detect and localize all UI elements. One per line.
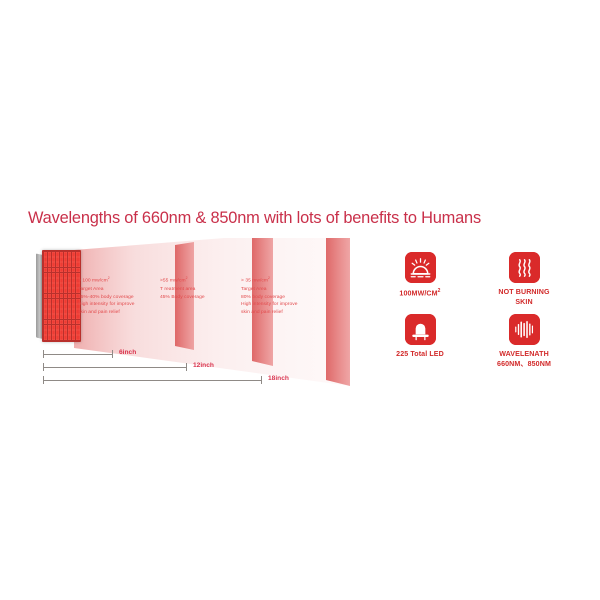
led-dot <box>52 320 56 325</box>
led-dot <box>60 304 64 309</box>
led-dot <box>60 314 64 319</box>
led-dot <box>68 294 72 299</box>
led-dot <box>52 325 56 330</box>
led-dot <box>76 257 80 262</box>
led-dot <box>52 268 56 273</box>
infographic-canvas: Wavelengths of 660nm & 850nm with lots o… <box>0 0 600 600</box>
led-dot <box>44 320 48 325</box>
led-dot <box>60 294 64 299</box>
led-dot <box>72 304 76 309</box>
led-dot <box>64 335 68 340</box>
led-dot <box>48 304 52 309</box>
led-dot <box>48 288 52 293</box>
led-dot <box>44 278 48 283</box>
ruler-bar <box>43 354 113 355</box>
led-dot <box>56 335 60 340</box>
zone-note-2: skin and pain relief <box>78 309 134 317</box>
led-dot <box>56 304 60 309</box>
led-dot <box>44 299 48 304</box>
sun-rays-icon <box>405 252 436 283</box>
led-dot <box>64 268 68 273</box>
led-dot <box>64 273 68 278</box>
feature-power-density: 100MW/CM2 <box>372 252 468 299</box>
led-dot <box>52 273 56 278</box>
led-dot <box>56 309 60 314</box>
ruler-bar <box>43 367 187 368</box>
led-dot <box>72 294 76 299</box>
led-dot <box>56 320 60 325</box>
led-dot <box>64 330 68 335</box>
led-dot <box>48 252 52 257</box>
led-dot <box>48 283 52 288</box>
ruler-cap-right <box>186 363 187 371</box>
led-dot <box>56 257 60 262</box>
led-dot <box>56 299 60 304</box>
feature-not-burning-skin: NOT BURNING SKIN <box>476 252 572 307</box>
feature-grid: 100MW/CM2 225 Total LED <box>372 252 576 382</box>
led-dot <box>60 262 64 267</box>
led-dot <box>44 330 48 335</box>
feature-label: 100MW/CM2 <box>372 288 468 299</box>
zone-irradiance: > 100 mw/cm2 <box>78 276 134 286</box>
led-dot <box>64 325 68 330</box>
led-dot <box>76 320 80 325</box>
zone-label-6inch: > 100 mw/cm2 Target Area 35%-40% body co… <box>78 276 134 317</box>
led-dot <box>56 268 60 273</box>
feature-wavelength: WAVELENATH 660NM、850NM <box>476 314 572 369</box>
led-dot <box>52 262 56 267</box>
led-dot <box>52 283 56 288</box>
led-dot <box>60 268 64 273</box>
ruler-cap-right <box>261 376 262 384</box>
panel-face <box>42 250 81 342</box>
zone-area: Target Area <box>241 286 297 294</box>
zone-label-12inch: >55 mw/cm2 T reatment area 45% Body cove… <box>160 276 205 301</box>
led-bulb-icon <box>405 314 436 345</box>
led-dot <box>48 268 52 273</box>
led-dot <box>68 262 72 267</box>
ruler-6inch: 6inch <box>43 349 113 359</box>
led-dot <box>72 262 76 267</box>
zone-label-18inch: > 35 mw/cm2 Target Area 80% body coverag… <box>241 276 297 317</box>
led-dot <box>64 314 68 319</box>
led-dot <box>72 309 76 314</box>
led-dot <box>60 252 64 257</box>
led-dot <box>72 299 76 304</box>
led-dot <box>52 304 56 309</box>
led-dot <box>72 330 76 335</box>
led-dot <box>76 268 80 273</box>
led-dot <box>52 278 56 283</box>
led-dot <box>64 304 68 309</box>
led-dot <box>60 257 64 262</box>
led-dot <box>68 325 72 330</box>
led-dot <box>64 257 68 262</box>
led-dot <box>44 335 48 340</box>
led-dot <box>52 309 56 314</box>
led-dot <box>56 288 60 293</box>
led-dot <box>72 283 76 288</box>
led-dot <box>44 268 48 273</box>
led-dot <box>60 273 64 278</box>
ruler-label: 12inch <box>193 362 214 369</box>
led-dot <box>48 320 52 325</box>
ruler-cap-left <box>43 376 44 384</box>
led-dot <box>64 283 68 288</box>
led-dot <box>68 320 72 325</box>
led-dot <box>68 309 72 314</box>
led-dot <box>48 299 52 304</box>
led-dot <box>48 335 52 340</box>
led-dot <box>60 325 64 330</box>
led-dot <box>68 273 72 278</box>
feature-total-led: 225 Total LED <box>372 314 468 360</box>
page-title: Wavelengths of 660nm & 850nm with lots o… <box>28 209 576 228</box>
led-dot <box>68 252 72 257</box>
led-dot <box>56 325 60 330</box>
led-dot <box>76 330 80 335</box>
led-dot <box>52 299 56 304</box>
zone-note-1: High intensity for improve <box>78 301 134 309</box>
led-dot <box>56 294 60 299</box>
zone-note-2: skin and pain relief <box>241 309 297 317</box>
led-dot <box>60 278 64 283</box>
led-dot <box>76 262 80 267</box>
zone-note-1: High intensity for improve <box>241 301 297 309</box>
ruler-18inch: 18inch <box>43 375 262 385</box>
led-dot <box>72 273 76 278</box>
zone-area: Target Area <box>78 286 134 294</box>
led-dot <box>72 335 76 340</box>
led-dot <box>68 283 72 288</box>
led-dot <box>60 330 64 335</box>
led-dot <box>68 304 72 309</box>
led-dot <box>48 262 52 267</box>
led-dot <box>56 314 60 319</box>
led-dot <box>60 335 64 340</box>
led-dot <box>64 278 68 283</box>
led-dot <box>72 278 76 283</box>
led-dot <box>68 268 72 273</box>
led-dot <box>60 288 64 293</box>
led-dot <box>44 325 48 330</box>
zone-coverage: 35%-40% body coverage <box>78 294 134 302</box>
led-dot <box>60 283 64 288</box>
ruler-12inch: 12inch <box>43 362 187 372</box>
led-dot <box>68 257 72 262</box>
led-dot <box>68 299 72 304</box>
led-dot <box>44 257 48 262</box>
led-dot <box>44 252 48 257</box>
led-dot <box>68 330 72 335</box>
led-dot <box>64 309 68 314</box>
feature-label: WAVELENATH 660NM、850NM <box>476 350 572 369</box>
led-dot <box>68 314 72 319</box>
led-dot <box>56 252 60 257</box>
led-dot <box>48 294 52 299</box>
led-dot <box>44 314 48 319</box>
led-dot <box>72 288 76 293</box>
led-dot <box>52 252 56 257</box>
led-dot <box>72 325 76 330</box>
led-dot <box>56 330 60 335</box>
led-dot <box>48 330 52 335</box>
zone-irradiance: > 35 mw/cm2 <box>241 276 297 286</box>
led-dot <box>56 283 60 288</box>
zone-irradiance: >55 mw/cm2 <box>160 276 205 286</box>
led-dot <box>44 294 48 299</box>
led-dot <box>76 252 80 257</box>
led-dot <box>56 278 60 283</box>
led-dot <box>44 309 48 314</box>
led-dot <box>60 299 64 304</box>
led-dot <box>52 288 56 293</box>
led-dot <box>72 320 76 325</box>
plane-18inch <box>326 238 350 386</box>
led-dot <box>68 335 72 340</box>
ruler-cap-left <box>43 350 44 358</box>
led-dot <box>64 299 68 304</box>
led-dot <box>48 309 52 314</box>
zone-area: T reatment area <box>160 286 205 294</box>
led-dot <box>48 273 52 278</box>
ruler-cap-right <box>112 350 113 358</box>
led-dot <box>48 257 52 262</box>
led-dot <box>44 304 48 309</box>
led-dot <box>44 273 48 278</box>
waveform-icon <box>509 314 540 345</box>
heat-waves-icon <box>509 252 540 283</box>
zone-coverage: 45% Body coverage <box>160 294 205 302</box>
ruler-label: 6inch <box>119 349 136 356</box>
led-dot <box>48 314 52 319</box>
led-dot <box>48 325 52 330</box>
led-panel <box>36 250 84 342</box>
ruler-label: 18inch <box>268 375 289 382</box>
led-grid <box>44 252 80 340</box>
feature-label: 225 Total LED <box>372 350 468 360</box>
led-dot <box>44 288 48 293</box>
led-dot <box>44 262 48 267</box>
led-dot <box>56 273 60 278</box>
led-dot <box>64 320 68 325</box>
led-dot <box>48 278 52 283</box>
led-dot <box>68 278 72 283</box>
led-dot <box>52 257 56 262</box>
led-dot <box>64 262 68 267</box>
led-dot <box>64 294 68 299</box>
led-dot <box>76 325 80 330</box>
led-dot <box>60 320 64 325</box>
led-dot <box>72 252 76 257</box>
led-dot <box>64 288 68 293</box>
zone-coverage: 80% body coverage <box>241 294 297 302</box>
led-dot <box>56 262 60 267</box>
led-dot <box>52 335 56 340</box>
ruler-bar <box>43 380 262 381</box>
led-dot <box>60 309 64 314</box>
feature-label: NOT BURNING SKIN <box>476 288 572 307</box>
led-dot <box>76 335 80 340</box>
ruler-cap-left <box>43 363 44 371</box>
led-dot <box>52 314 56 319</box>
led-dot <box>72 268 76 273</box>
led-dot <box>72 257 76 262</box>
led-dot <box>52 294 56 299</box>
led-dot <box>64 252 68 257</box>
led-dot <box>68 288 72 293</box>
led-dot <box>52 330 56 335</box>
led-dot <box>44 283 48 288</box>
led-dot <box>72 314 76 319</box>
